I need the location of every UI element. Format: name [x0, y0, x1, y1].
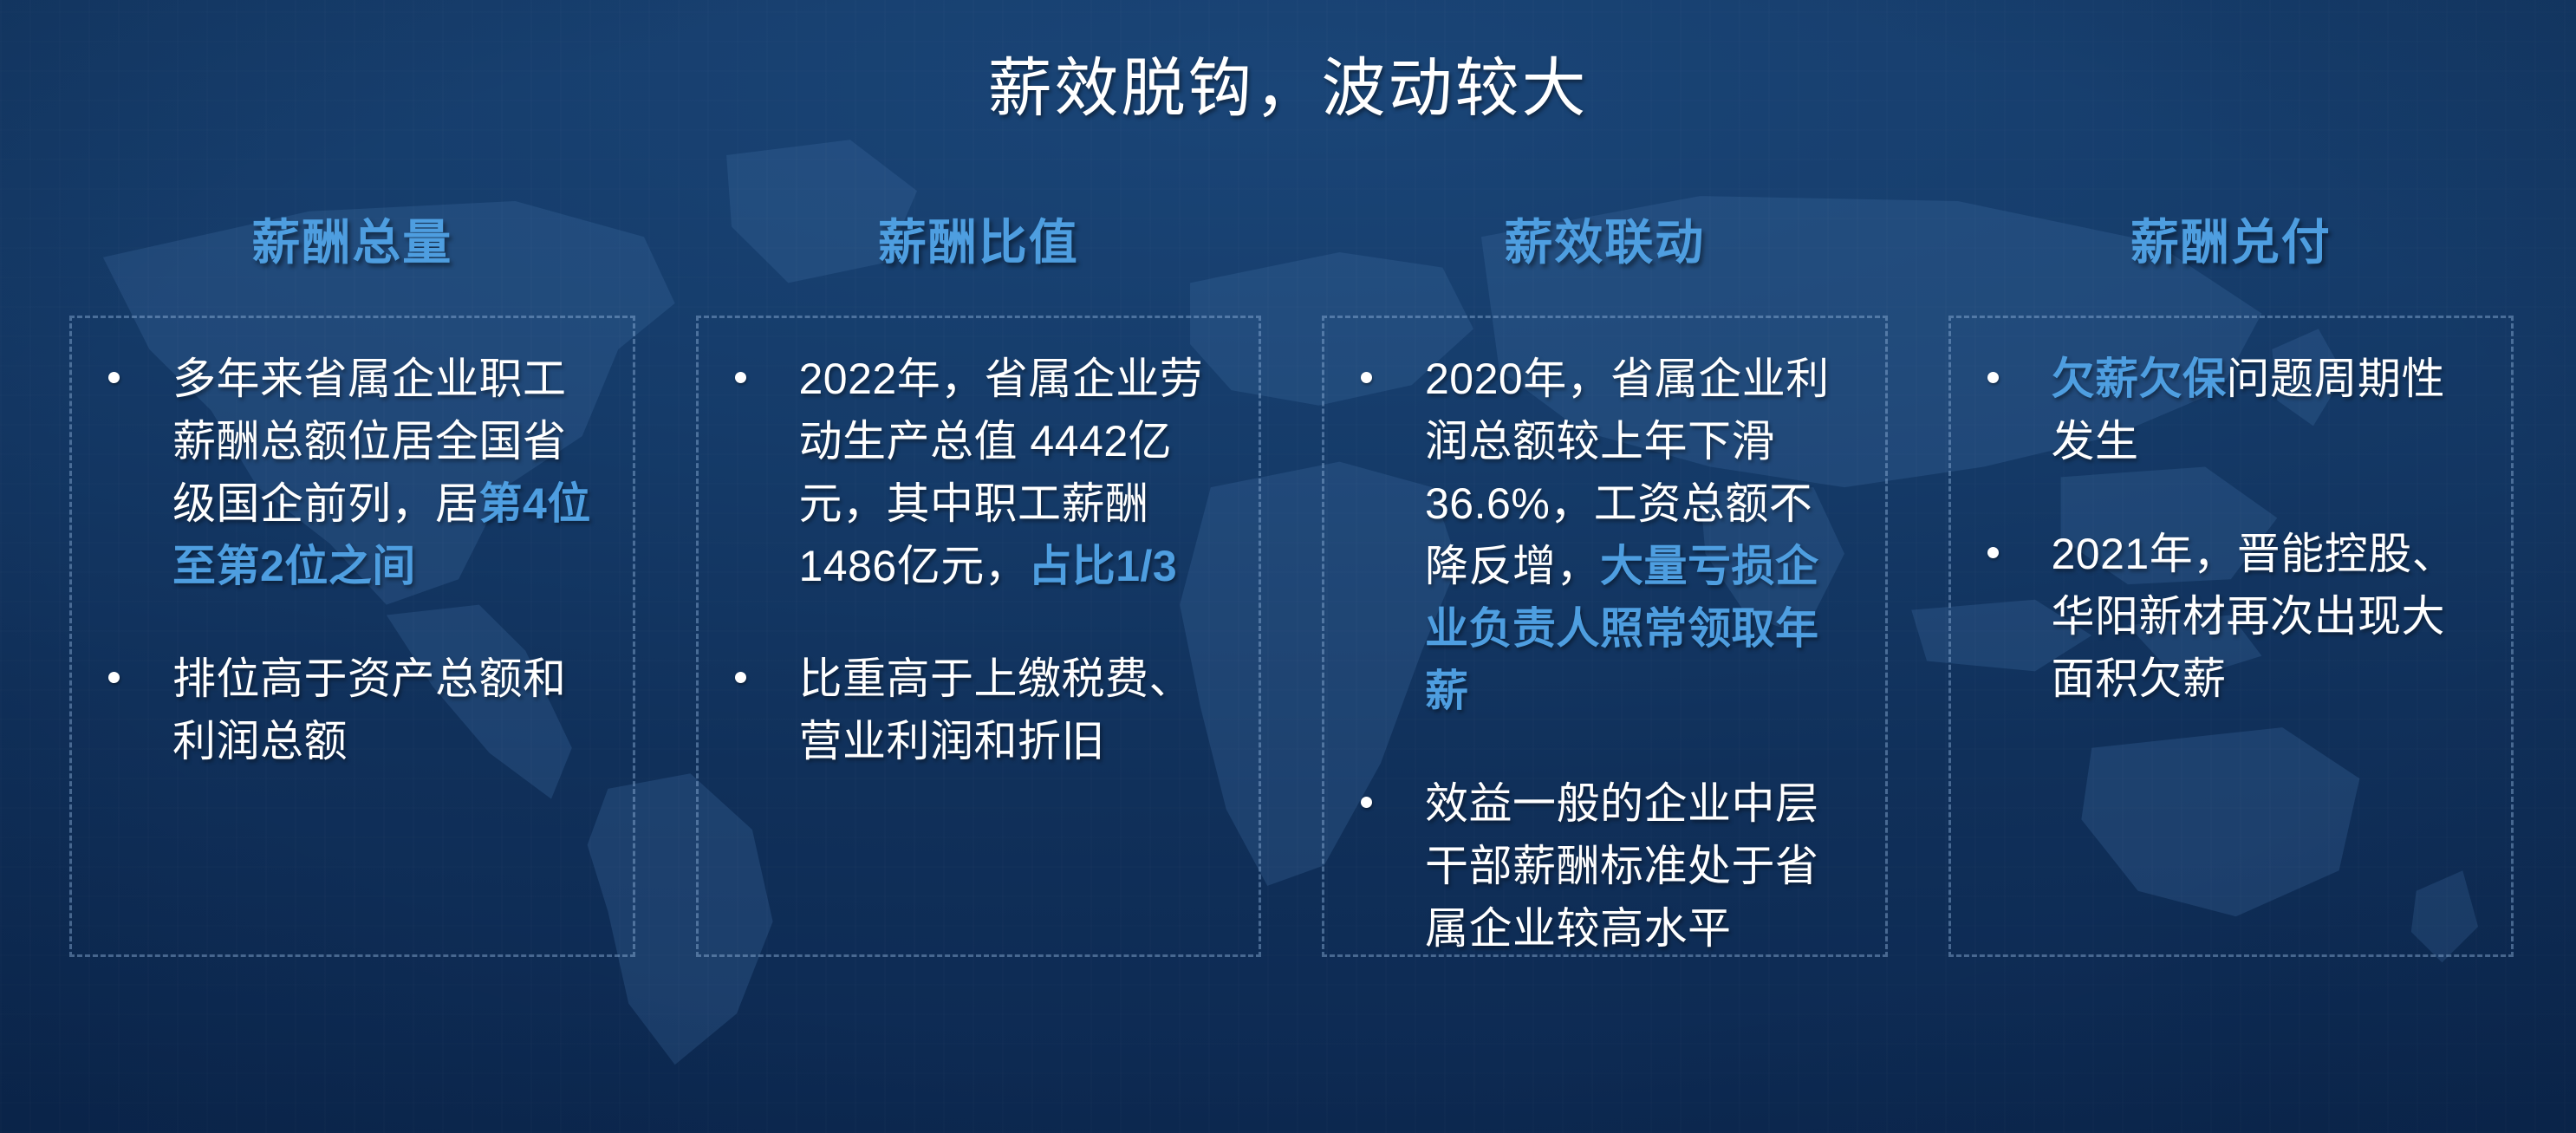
list-item: 排位高于资产总额和利润总额	[101, 648, 603, 772]
column-1: 薪酬总量 多年来省属企业职工薪酬总额位居全国省级国企前列，居第4位至第2位之间 …	[69, 204, 635, 957]
list-item: 2021年，晋能控股、华阳新材再次出现大面积欠薪	[1981, 523, 2482, 710]
bullet-text-segment: 比重高于上缴税费、营业利润和折旧	[799, 654, 1194, 765]
list-item: 效益一般的企业中层干部薪酬标准处于省属企业较高水平	[1354, 772, 1856, 960]
page-title: 薪效脱钩，波动较大	[0, 36, 2576, 129]
column-1-header: 薪酬总量	[69, 204, 635, 274]
column-3-bullet-list: 2020年，省属企业利润总额较上年下滑 36.6%，工资总额不降反增，大量亏损企…	[1354, 348, 1856, 960]
column-3: 薪效联动 2020年，省属企业利润总额较上年下滑 36.6%，工资总额不降反增，…	[1322, 204, 1888, 957]
column-4-box: 欠薪欠保问题周期性发生 2021年，晋能控股、华阳新材再次出现大面积欠薪	[1948, 316, 2514, 957]
list-item: 2022年，省属企业劳动生产总值 4442亿元，其中职工薪酬1486亿元，占比1…	[728, 348, 1230, 597]
column-2-bullet-list: 2022年，省属企业劳动生产总值 4442亿元，其中职工薪酬1486亿元，占比1…	[728, 348, 1230, 772]
column-2-box: 2022年，省属企业劳动生产总值 4442亿元，其中职工薪酬1486亿元，占比1…	[696, 316, 1262, 957]
bullet-text-highlight: 欠薪欠保	[2052, 355, 2227, 403]
column-4-bullet-list: 欠薪欠保问题周期性发生 2021年，晋能控股、华阳新材再次出现大面积欠薪	[1981, 348, 2482, 710]
bullet-dot-icon	[1361, 372, 1372, 383]
bullet-text-highlight: 占比1/3	[1028, 542, 1177, 590]
column-2-header: 薪酬比值	[696, 204, 1262, 274]
bullet-dot-icon	[1987, 547, 1999, 558]
bullet-dot-icon	[108, 672, 120, 683]
list-item: 欠薪欠保问题周期性发生	[1981, 348, 2482, 472]
column-4-header: 薪酬兑付	[1948, 204, 2514, 274]
bullet-dot-icon	[108, 372, 120, 383]
bullet-dot-icon	[1987, 372, 1999, 383]
slide-canvas: 薪效脱钩，波动较大 薪酬总量 多年来省属企业职工薪酬总额位居全国省级国企前列，居…	[0, 0, 2576, 1133]
column-4: 薪酬兑付 欠薪欠保问题周期性发生 2021年，晋能控股、华阳新材再次出现大面积欠…	[1948, 204, 2514, 957]
list-item: 多年来省属企业职工薪酬总额位居全国省级国企前列，居第4位至第2位之间	[101, 348, 603, 597]
column-3-header: 薪效联动	[1322, 204, 1888, 274]
bullet-text-segment: 效益一般的企业中层干部薪酬标准处于省属企业较高水平	[1425, 779, 1819, 953]
list-item: 2020年，省属企业利润总额较上年下滑 36.6%，工资总额不降反增，大量亏损企…	[1354, 348, 1856, 722]
bullet-dot-icon	[735, 372, 746, 383]
column-1-box: 多年来省属企业职工薪酬总额位居全国省级国企前列，居第4位至第2位之间 排位高于资…	[69, 316, 635, 957]
bullet-dot-icon	[735, 672, 746, 683]
bullet-text-segment: 2021年，晋能控股、华阳新材再次出现大面积欠薪	[2052, 530, 2456, 703]
columns-container: 薪酬总量 多年来省属企业职工薪酬总额位居全国省级国企前列，居第4位至第2位之间 …	[69, 204, 2514, 957]
list-item: 比重高于上缴税费、营业利润和折旧	[728, 648, 1230, 772]
column-1-bullet-list: 多年来省属企业职工薪酬总额位居全国省级国企前列，居第4位至第2位之间 排位高于资…	[101, 348, 603, 772]
column-3-box: 2020年，省属企业利润总额较上年下滑 36.6%，工资总额不降反增，大量亏损企…	[1322, 316, 1888, 957]
column-2: 薪酬比值 2022年，省属企业劳动生产总值 4442亿元，其中职工薪酬1486亿…	[696, 204, 1262, 957]
bullet-text-segment: 排位高于资产总额和利润总额	[172, 654, 567, 765]
bullet-dot-icon	[1361, 797, 1372, 808]
